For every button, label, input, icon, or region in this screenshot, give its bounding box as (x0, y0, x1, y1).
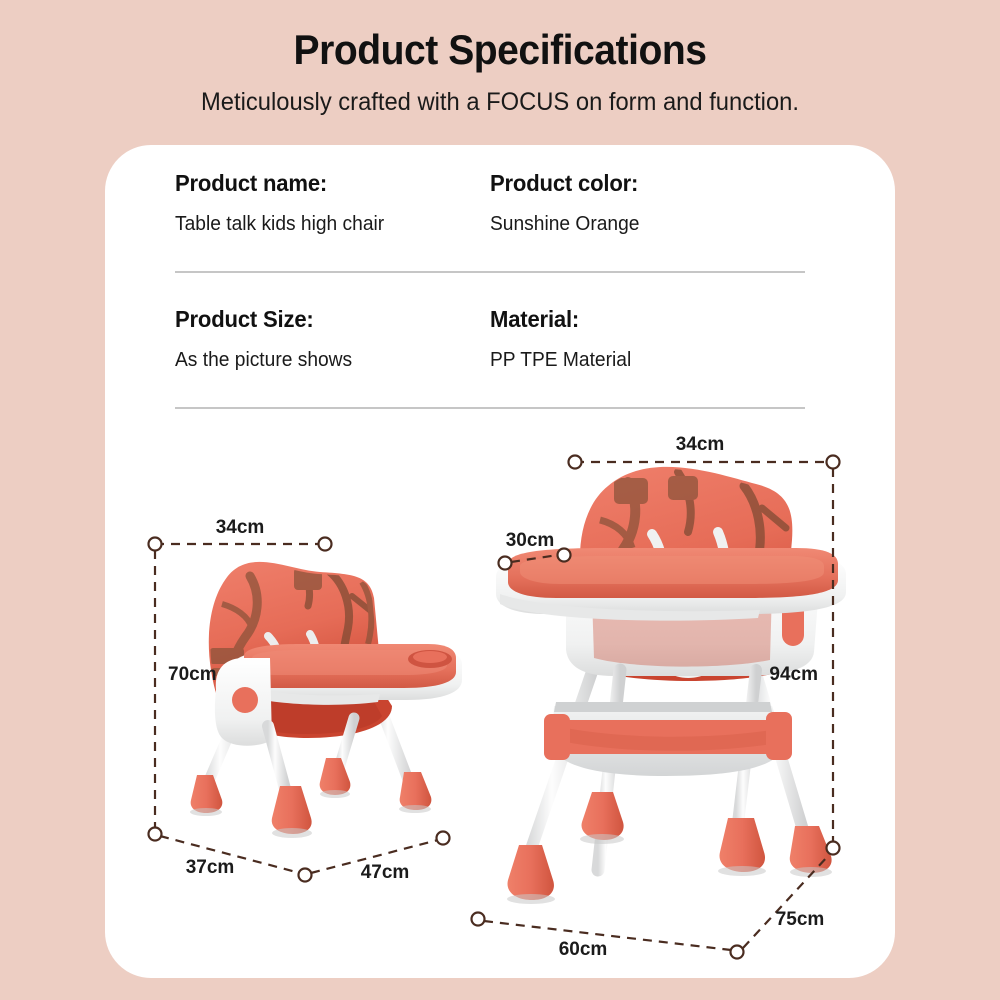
spec-value-product-name: Table talk kids high chair (175, 213, 477, 236)
spec-value-product-color: Sunshine Orange (490, 213, 792, 236)
page-header: Product Specifications Meticulously craf… (0, 0, 1000, 117)
spec-cell-product-color: Product color: Sunshine Orange (490, 170, 805, 236)
page-subtitle: Meticulously crafted with a FOCUS on for… (25, 74, 975, 117)
spec-divider-1 (175, 271, 805, 273)
spec-cell-product-name: Product name: Table talk kids high chair (175, 170, 490, 236)
spec-value-material: PP TPE Material (490, 349, 792, 372)
spec-value-product-size: As the picture shows (175, 349, 477, 372)
spec-label-product-color: Product color: (490, 170, 792, 213)
spec-divider-2 (175, 407, 805, 409)
spec-row-2: Product Size: As the picture shows Mater… (175, 306, 805, 372)
spec-label-material: Material: (490, 306, 792, 349)
specification-card: Product name: Table talk kids high chair… (105, 145, 895, 978)
page-title: Product Specifications (35, 0, 965, 74)
spec-label-product-size: Product Size: (175, 306, 477, 349)
spec-label-product-name: Product name: (175, 170, 477, 213)
spec-cell-material: Material: PP TPE Material (490, 306, 805, 372)
spec-cell-product-size: Product Size: As the picture shows (175, 306, 490, 372)
specification-table: Product name: Table talk kids high chair… (175, 170, 805, 409)
spec-row-1: Product name: Table talk kids high chair… (175, 170, 805, 236)
